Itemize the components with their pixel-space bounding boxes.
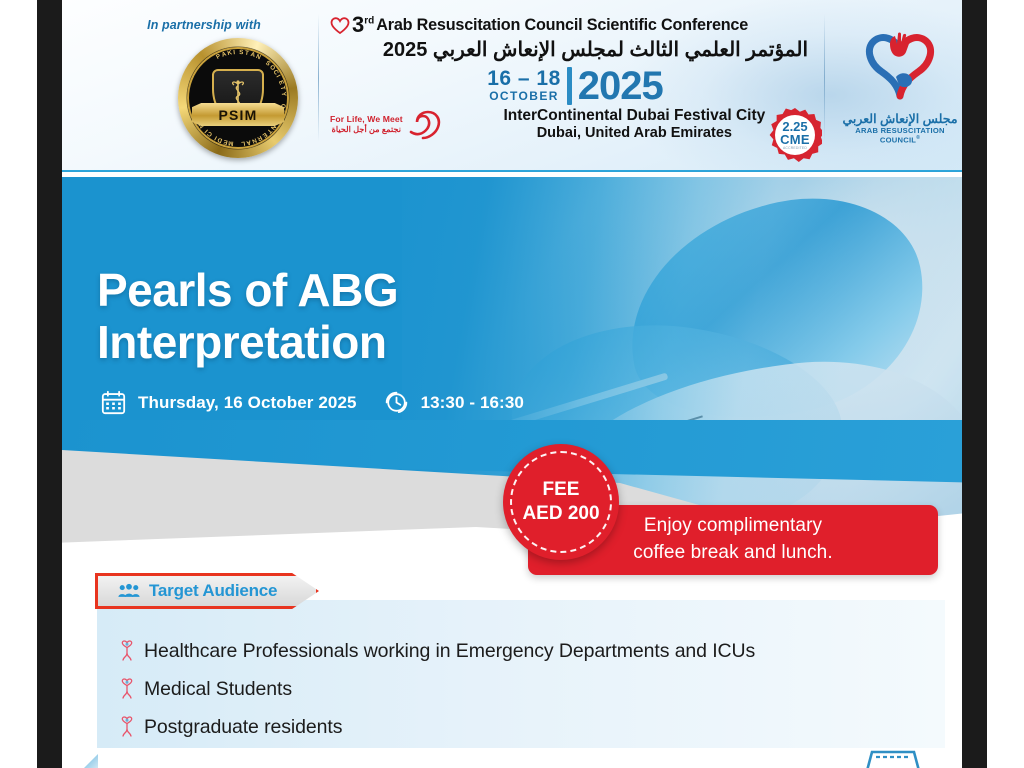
- tagline-en: For Life, We Meet: [330, 115, 403, 125]
- header-divider-left: [318, 14, 319, 142]
- clock-icon: [383, 389, 410, 416]
- conference-ordinal: 3rd: [352, 14, 374, 36]
- header-bottom-rule: [62, 170, 962, 172]
- conference-title-row: 3rd Arab Resuscitation Council Scientifi…: [330, 14, 820, 36]
- partner-label: In partnership with: [84, 18, 324, 32]
- arc-heart-hand-logo-icon: [852, 16, 948, 104]
- device-frame-right-bar: [962, 0, 987, 768]
- complimentary-line-1: Enjoy complimentary: [644, 513, 822, 540]
- dates-separator-bar: [567, 67, 572, 105]
- stethoscope-heart-bullet-icon: [119, 716, 135, 738]
- screenshot-root: In partnership with PAKISTAN SOCIETY OF …: [0, 0, 1024, 768]
- arc-name-en: ARAB RESUSCITATION COUNCIL®: [840, 126, 960, 145]
- conference-title-en: Arab Resuscitation Council Scientific Co…: [376, 14, 748, 35]
- hero-time-item: 13:30 - 16:30: [383, 389, 524, 416]
- list-item: Healthcare Professionals working in Emer…: [119, 632, 755, 670]
- conference-date-month: OCTOBER: [487, 89, 561, 103]
- hero-title: Pearls of ABG Interpretation: [97, 265, 398, 368]
- tagline-ar: نجتمع من أجل الحياة: [330, 125, 403, 134]
- venue-line-1: InterContinental Dubai Festival City: [449, 107, 820, 125]
- cme-credits-sub: ACCREDITED: [783, 147, 807, 150]
- fee-amount: AED 200: [522, 502, 599, 526]
- fee-label: FEE: [543, 478, 580, 502]
- header-divider-right: [824, 14, 825, 142]
- list-item-text: Postgraduate residents: [144, 716, 342, 739]
- hero-date-item: Thursday, 16 October 2025: [100, 389, 357, 416]
- partner-block: In partnership with: [84, 18, 324, 32]
- target-audience-list: Healthcare Professionals working in Emer…: [119, 632, 755, 746]
- hero-title-line-2: Interpretation: [97, 317, 398, 369]
- conference-dates-row: 16 – 18 OCTOBER 2025: [330, 67, 820, 105]
- event-poster: In partnership with PAKISTAN SOCIETY OF …: [62, 0, 962, 768]
- cme-credits-value: 2.25: [782, 120, 807, 133]
- conference-title-ar: المؤتمر العلمي الثالث لمجلس الإنعاش العر…: [330, 38, 820, 63]
- people-group-icon: [118, 583, 140, 599]
- psim-banner-label: PSIM: [192, 103, 284, 126]
- arc-name-ar: مجلس الإنعاش العربي: [840, 111, 960, 126]
- stethoscope-heart-bullet-icon: [119, 678, 135, 700]
- venue-line-2: Dubai, United Arab Emirates: [449, 125, 820, 142]
- target-audience-tab: Target Audience: [95, 573, 319, 609]
- partial-outline-icon-bottom: [850, 744, 936, 768]
- conference-identity-block: 3rd Arab Resuscitation Council Scientifi…: [330, 14, 820, 142]
- poster-header: In partnership with PAKISTAN SOCIETY OF …: [62, 0, 962, 172]
- calendar-icon: [100, 389, 127, 416]
- fee-badge: FEE AED 200: [503, 444, 619, 560]
- list-item-text: Medical Students: [144, 678, 292, 701]
- cme-credits-label: CME: [780, 133, 810, 146]
- list-item: Medical Students: [119, 670, 755, 708]
- cme-credits-badge: 2.25 CME ACCREDITED: [768, 108, 822, 162]
- arc-logo-block: مجلس الإنعاش العربي ARAB RESUSCITATION C…: [840, 16, 960, 145]
- target-audience-tab-label: Target Audience: [149, 581, 277, 601]
- heart-swoosh-icon: [409, 110, 443, 140]
- psim-logo-inner: PAKISTAN SOCIETY OF INTERNAL MEDICINE PS…: [187, 47, 289, 149]
- hero-time-text: 13:30 - 16:30: [421, 393, 524, 413]
- conference-date-range: 16 – 18: [487, 69, 561, 89]
- hero-date-text: Thursday, 16 October 2025: [138, 393, 357, 413]
- conference-year: 2025: [578, 68, 663, 104]
- hero-title-line-1: Pearls of ABG: [97, 265, 398, 317]
- stethoscope-heart-bullet-icon: [119, 640, 135, 662]
- device-frame-left-bar: [37, 0, 62, 768]
- venue-row: For Life, We Meet نجتمع من أجل الحياة In…: [330, 107, 820, 142]
- complimentary-line-2: coffee break and lunch.: [633, 540, 832, 567]
- psim-logo: PAKISTAN SOCIETY OF INTERNAL MEDICINE PS…: [178, 38, 298, 158]
- list-item: Postgraduate residents: [119, 708, 755, 746]
- venue-text: InterContinental Dubai Festival City Dub…: [449, 107, 820, 142]
- hero-meta-row: Thursday, 16 October 2025 13:30 - 16:30: [100, 389, 524, 416]
- conference-tagline: For Life, We Meet نجتمع من أجل الحياة: [330, 115, 403, 134]
- heart-outline-icon: [330, 17, 350, 35]
- list-item-text: Healthcare Professionals working in Emer…: [144, 640, 755, 663]
- cme-badge-inner: 2.25 CME ACCREDITED: [775, 115, 815, 155]
- bottom-left-accent-shape: [84, 754, 98, 768]
- conference-dates-left: 16 – 18 OCTOBER: [487, 69, 561, 103]
